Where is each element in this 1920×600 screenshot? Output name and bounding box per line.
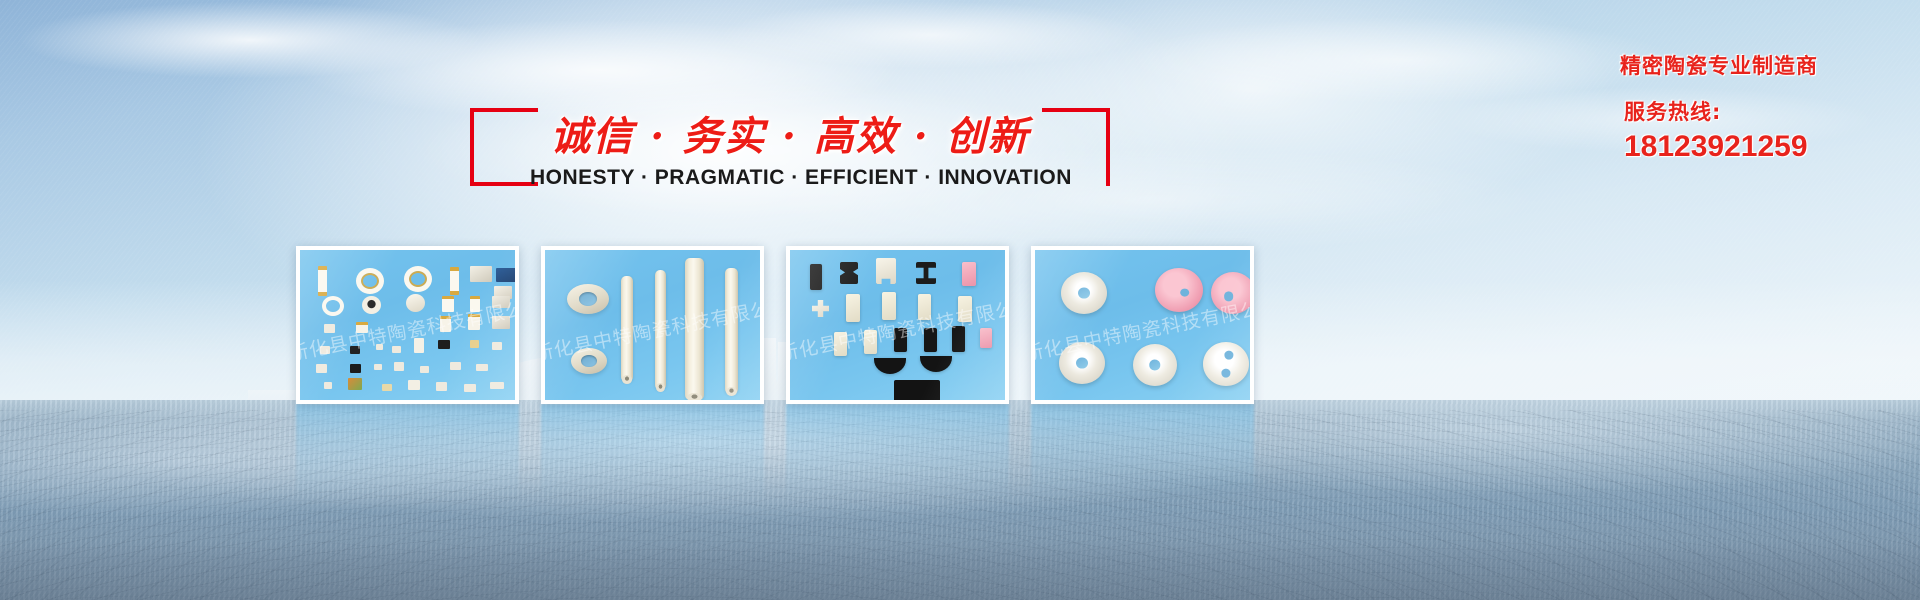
ceramic-disc-white: [1061, 272, 1107, 314]
ceramic-block-dark: [952, 326, 965, 352]
ceramic-h-block-dark: [916, 262, 936, 284]
smd-chip: [316, 364, 327, 373]
company-tagline: 精密陶瓷专业制造商: [1620, 50, 1880, 80]
ceramic-block-ivory: [918, 294, 931, 320]
smd-chip: [450, 362, 461, 370]
product-panel-ceramic-discs[interactable]: 新化县中特陶瓷科技有限公司: [1031, 246, 1254, 404]
ceramic-arc-dark: [874, 358, 906, 374]
slogan-chinese: 诚信 · 务实 · 高效 · 创新: [546, 104, 1034, 162]
disc-hub: [1078, 288, 1090, 299]
smd-chip: [492, 342, 502, 350]
product-panel-smd-components[interactable]: 新化县中特陶瓷科技有限公司: [296, 246, 519, 404]
smd-chip: [490, 382, 504, 389]
ceramic-ring-small: [571, 348, 607, 374]
smd-module: [492, 296, 510, 308]
disc-hub: [1180, 288, 1190, 297]
smd-module: [470, 266, 492, 282]
smd-chip: [450, 267, 459, 295]
ceramic-ring-large: [567, 284, 609, 314]
product-panel-ceramic-blocks[interactable]: 新化县中特陶瓷科技有限公司: [786, 246, 1009, 404]
smd-chip: [394, 362, 404, 371]
ceramic-block-dark: [810, 264, 822, 290]
smd-chip: [436, 382, 447, 391]
bracket-top-right-horizontal: [1042, 108, 1110, 112]
disc-hub: [1076, 358, 1088, 369]
smd-disc: [362, 296, 381, 314]
smd-module-blue: [496, 268, 516, 282]
smd-chip: [414, 338, 424, 353]
smd-chip: [382, 384, 392, 391]
slogan-english: HONESTY · PRAGMATIC · EFFICIENT · INNOVA…: [530, 166, 1050, 190]
smd-chip: [442, 296, 454, 312]
smd-chip: [356, 322, 368, 333]
ceramic-block-dark: [924, 328, 937, 352]
disc-hub: [1221, 368, 1230, 377]
ceramic-base-dark: [894, 380, 940, 402]
smd-ring: [356, 268, 384, 294]
ceramic-block-pink: [962, 262, 976, 286]
smd-module-multi: [348, 378, 362, 390]
ceramic-block-ivory: [958, 296, 972, 322]
ceramic-disc-white: [1133, 344, 1177, 386]
ceramic-tube-thick: [685, 258, 704, 400]
ceramic-block-ivory: [882, 292, 896, 320]
smd-chip: [392, 346, 401, 353]
product-panel-ceramic-tubes[interactable]: 新化县中特陶瓷科技有限公司: [541, 246, 764, 404]
product-panel-row: 新化县中特陶瓷科技有限公司 新化县中特陶瓷科技有限公司: [296, 246, 1524, 404]
smd-ring: [322, 296, 344, 316]
ground-shadow: [0, 510, 1920, 600]
ceramic-disc-white: [1059, 342, 1105, 384]
smd-chip: [420, 366, 429, 373]
ceramic-disc-pink: [1211, 272, 1254, 314]
disc-hub: [1224, 292, 1234, 301]
ceramic-tube: [655, 270, 666, 390]
smd-chip: [470, 296, 480, 312]
hotline-number[interactable]: 18123921259: [1620, 130, 1880, 164]
disc-hub: [1149, 360, 1160, 371]
smd-module: [492, 316, 510, 329]
bracket-bottom-left-horizontal: [470, 182, 538, 186]
ceramic-block-ivory: [834, 332, 847, 356]
contact-block: 精密陶瓷专业制造商 服务热线: 18123921259: [1620, 50, 1880, 164]
ceramic-block-pink: [980, 328, 992, 348]
wet-ground-plane: [0, 400, 1920, 600]
smd-chip: [476, 364, 488, 371]
disc-hub: [1224, 351, 1233, 360]
ceramic-cross-white: [812, 300, 829, 317]
smd-chip: [374, 364, 382, 370]
ceramic-disc-pink: [1155, 268, 1203, 312]
smd-chip: [468, 314, 480, 330]
ceramic-tube: [621, 276, 633, 382]
ceramic-connector-white: [876, 258, 896, 284]
smd-chip: [318, 266, 327, 296]
smd-chip: [440, 316, 451, 332]
smd-ring: [404, 266, 432, 292]
ceramic-tube: [725, 268, 738, 394]
slogan-block: 诚信 · 务实 · 高效 · 创新 HONESTY · PRAGMATIC · …: [470, 108, 1110, 208]
smd-chip: [464, 384, 476, 392]
smd-chip: [324, 324, 335, 333]
ceramic-disc-valve: [1203, 342, 1249, 386]
smd-disc: [406, 294, 425, 312]
ceramic-block-dark: [894, 328, 907, 352]
hotline-label: 服务热线:: [1620, 96, 1880, 126]
ceramic-block-ivory: [846, 294, 860, 322]
bracket-top-left-vertical: [470, 108, 474, 186]
ceramic-block-ivory: [864, 330, 877, 354]
smd-chip: [470, 340, 479, 348]
smd-chip-dark: [350, 364, 361, 373]
smd-chip: [320, 346, 330, 354]
smd-chip-dark: [438, 340, 450, 349]
ceramic-bracket-dark: [840, 262, 858, 284]
bracket-top-left-horizontal: [470, 108, 538, 112]
smd-chip: [408, 380, 420, 390]
promo-banner: 诚信 · 务实 · 高效 · 创新 HONESTY · PRAGMATIC · …: [0, 0, 1920, 600]
ceramic-arc-dark: [920, 356, 952, 372]
smd-chip-dark: [350, 346, 360, 354]
smd-chip: [376, 344, 383, 350]
smd-chip: [324, 382, 332, 389]
bracket-top-right-vertical: [1106, 108, 1110, 186]
